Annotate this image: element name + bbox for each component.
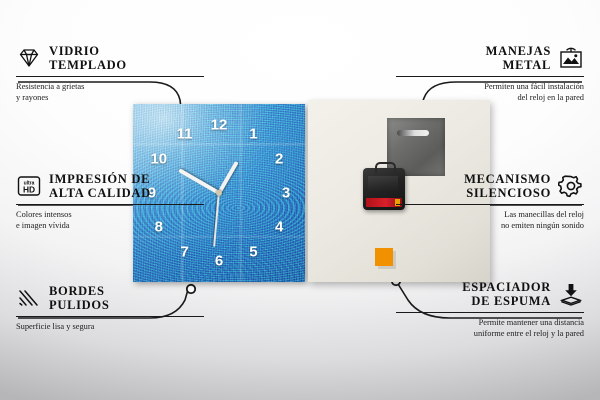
feature-title: MANEJAS METAL	[486, 44, 551, 72]
feature-title-line2: DE ESPUMA	[462, 294, 551, 308]
feature-impresion-alta-calidad: ultra HD IMPRESIÓN DE ALTA CALIDAD Color…	[16, 172, 204, 232]
feature-desc: Colores intensos e imagen vívida	[16, 209, 204, 231]
foam-spacer	[375, 248, 393, 266]
feature-manejas-metal: MANEJAS METAL Permiten una fácil instala…	[396, 44, 584, 104]
feature-title: BORDES PULIDOS	[49, 284, 109, 312]
feature-desc: Superficie lisa y segura	[16, 321, 204, 332]
feature-title: MECANISMO SILENCIOSO	[464, 172, 551, 200]
feature-desc: Resistencia a grietas y rayones	[16, 81, 204, 103]
numeral-7: 7	[180, 244, 188, 259]
feature-title-line1: ESPACIADOR	[462, 280, 551, 294]
numeral-3: 3	[282, 186, 290, 201]
feature-vidrio-templado: VIDRIO TEMPLADO Resistencia a grietas y …	[16, 44, 204, 104]
feature-desc-line1: Superficie lisa y segura	[16, 321, 204, 332]
hanger-slot	[397, 130, 429, 136]
feature-title: VIDRIO TEMPLADO	[49, 44, 127, 72]
feature-title-line1: VIDRIO	[49, 44, 127, 58]
feature-title-line1: MANEJAS	[486, 44, 551, 58]
feature-title-line2: METAL	[486, 58, 551, 72]
feature-desc-line1: Permite mantener una distancia	[396, 317, 584, 328]
mechanism-loop	[375, 162, 396, 173]
infographic-canvas: 12 1 2 3 4 5 6 7 8 9 10 11	[0, 0, 600, 400]
svg-text:HD: HD	[23, 184, 35, 194]
feature-title-line2: SILENCIOSO	[464, 186, 551, 200]
feature-title: ESPACIADOR DE ESPUMA	[462, 280, 551, 308]
feature-desc-line1: Permiten una fácil instalación	[396, 81, 584, 92]
feature-title-line2: TEMPLADO	[49, 58, 127, 72]
feature-title-line2: PULIDOS	[49, 298, 109, 312]
feature-rule	[396, 76, 584, 77]
feature-mecanismo-silencioso: MECANISMO SILENCIOSO Las manecillas del …	[396, 172, 584, 232]
feature-desc-line2: e imagen vívida	[16, 220, 204, 231]
feature-desc-line2: del reloj en la pared	[396, 92, 584, 103]
diamond-icon	[16, 46, 42, 70]
feature-title-line2: ALTA CALIDAD	[49, 186, 151, 200]
feature-desc: Permiten una fácil instalación del reloj…	[396, 81, 584, 103]
feature-desc-line1: Las manecillas del reloj	[396, 209, 584, 220]
numeral-5: 5	[249, 244, 257, 259]
numeral-10: 10	[150, 152, 167, 167]
picture-hanger-icon	[558, 46, 584, 70]
numeral-12: 12	[211, 118, 228, 133]
numeral-4: 4	[275, 219, 283, 234]
feature-title-line1: IMPRESIÓN DE	[49, 172, 151, 186]
feature-desc: Permite mantener una distancia uniforme …	[396, 317, 584, 339]
numeral-2: 2	[275, 152, 283, 167]
feature-desc: Las manecillas del reloj no emiten ningú…	[396, 209, 584, 231]
feature-rule	[16, 316, 204, 317]
numeral-11: 11	[177, 127, 193, 142]
gear-icon	[558, 174, 584, 198]
feature-desc-line1: Colores intensos	[16, 209, 204, 220]
feature-desc-line1: Resistencia a grietas	[16, 81, 204, 92]
numeral-1: 1	[249, 127, 257, 142]
feature-bordes-pulidos: BORDES PULIDOS Superficie lisa y segura	[16, 284, 204, 332]
feature-title-line1: MECANISMO	[464, 172, 551, 186]
hand-center-cap	[216, 190, 222, 196]
feature-title: IMPRESIÓN DE ALTA CALIDAD	[49, 172, 151, 200]
foam-spacer-icon	[558, 282, 584, 306]
feature-rule	[16, 76, 204, 77]
polished-edges-icon	[16, 286, 42, 310]
feature-rule	[396, 312, 584, 313]
numeral-6: 6	[215, 253, 223, 268]
feature-rule	[396, 204, 584, 205]
feature-desc-line2: y rayones	[16, 92, 204, 103]
feature-espaciador-de-espuma: ESPACIADOR DE ESPUMA Permite mantener un…	[396, 280, 584, 340]
mechanism-detail	[368, 176, 398, 192]
feature-desc-line2: no emiten ningún sonido	[396, 220, 584, 231]
feature-title-line1: BORDES	[49, 284, 109, 298]
ultra-hd-icon: ultra HD	[16, 174, 42, 198]
feature-rule	[16, 204, 204, 205]
feature-desc-line2: uniforme entre el reloj y la pared	[396, 328, 584, 339]
